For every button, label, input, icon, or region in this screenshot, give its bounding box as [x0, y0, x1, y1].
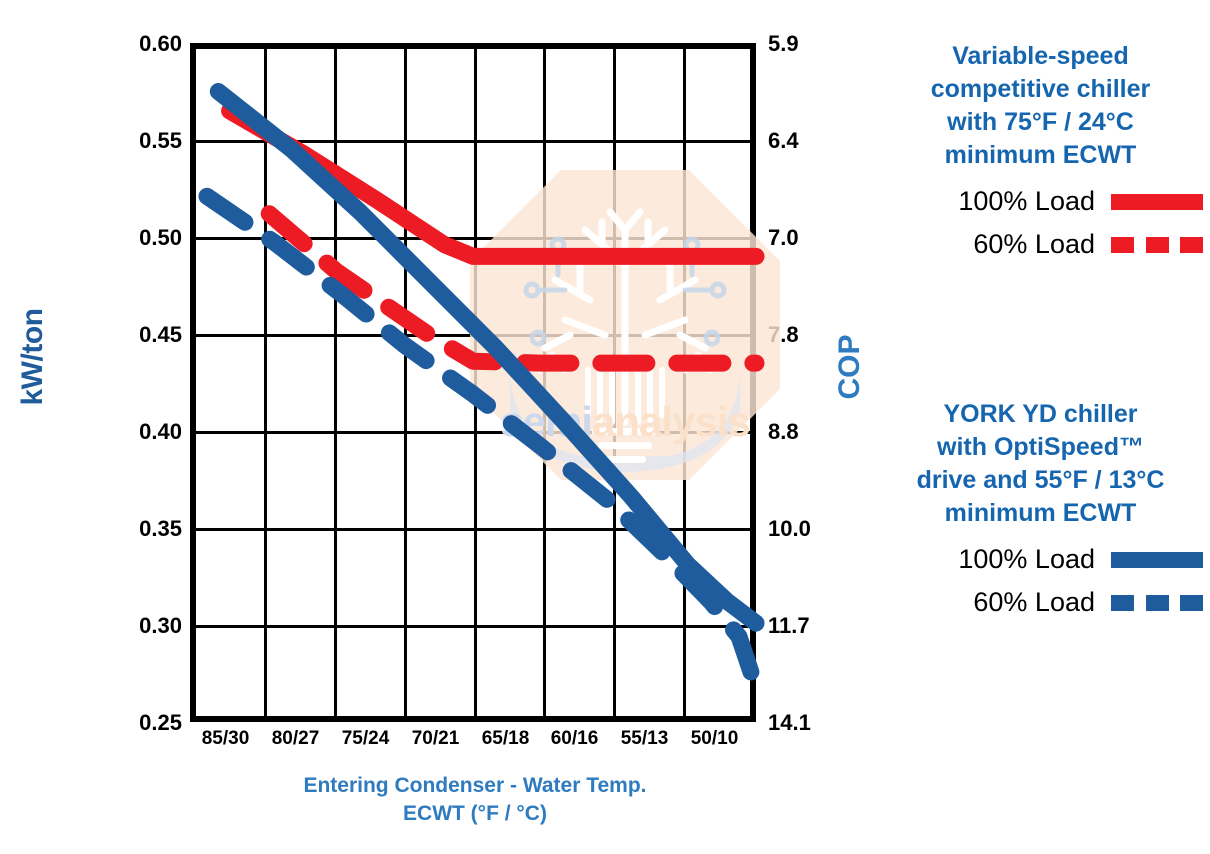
- y-tick-left-4: 0.40: [100, 419, 182, 445]
- x-tick-2: 75/24: [330, 728, 401, 750]
- legend-swatch-dashed-red: [1111, 237, 1203, 253]
- x-tick-0: 85/30: [190, 728, 261, 750]
- y-tick-right-6: 11.7: [768, 613, 858, 639]
- legend-title-line-3: minimum ECWT: [878, 497, 1203, 530]
- legend-title-line-1: competitive chiller: [878, 73, 1203, 106]
- series-line-0: [230, 111, 756, 257]
- y-tick-right-4: 8.8: [768, 419, 858, 445]
- series-line-3: [207, 196, 756, 687]
- x-axis-title: Entering Condenser - Water Temp. ECWT (°…: [190, 772, 760, 828]
- legend-block-york: YORK YD chiller with OptiSpeed™ drive an…: [878, 398, 1203, 624]
- legend-label: 60% Load: [973, 587, 1095, 618]
- x-tick-4: 65/18: [470, 728, 541, 750]
- x-axis-title-line2: ECWT (°F / °C): [190, 800, 760, 828]
- legend-spacer: [878, 266, 1203, 398]
- x-tick-1: 80/27: [260, 728, 331, 750]
- legend-title-line-0: YORK YD chiller: [878, 398, 1203, 431]
- y-axis-title-left: kW/ton: [16, 277, 50, 437]
- x-tick-6: 55/13: [609, 728, 680, 750]
- legend-title-york: YORK YD chiller with OptiSpeed™ drive an…: [878, 398, 1203, 530]
- legend-label: 100% Load: [958, 544, 1095, 575]
- x-tick-3: 70/21: [400, 728, 471, 750]
- legend-title-line-2: with 75°F / 24°C: [878, 106, 1203, 139]
- y-tick-left-5: 0.35: [100, 516, 182, 542]
- y-tick-left-2: 0.50: [100, 225, 182, 251]
- chart-container: kW/ton COP 0.60 0.55 0.50 0.45 0.40 0.35…: [0, 0, 1210, 854]
- y-tick-right-2: 7.0: [768, 225, 858, 251]
- legend-item-competitive-100[interactable]: 100% Load: [878, 180, 1203, 223]
- legend-swatch-solid-red: [1111, 194, 1203, 210]
- legend-swatch-dashed-blue: [1111, 595, 1203, 611]
- legend-label: 100% Load: [958, 186, 1095, 217]
- y-tick-left-6: 0.30: [100, 613, 182, 639]
- legend-block-competitive: Variable-speed competitive chiller with …: [878, 40, 1203, 266]
- legend-item-york-100[interactable]: 100% Load: [878, 538, 1203, 581]
- y-tick-right-5: 10.0: [768, 516, 858, 542]
- legend-item-competitive-60[interactable]: 60% Load: [878, 223, 1203, 266]
- y-tick-right-3: 7.8: [768, 322, 858, 348]
- y-tick-right-7: 14.1: [768, 710, 858, 736]
- legend-swatch-solid-blue: [1111, 552, 1203, 568]
- legend-item-york-60[interactable]: 60% Load: [878, 581, 1203, 624]
- y-tick-left-3: 0.45: [100, 322, 182, 348]
- y-tick-left-7: 0.25: [100, 710, 182, 736]
- legend-title-line-1: with OptiSpeed™: [878, 431, 1203, 464]
- legend-title-line-3: minimum ECWT: [878, 139, 1203, 172]
- legend: Variable-speed competitive chiller with …: [878, 40, 1203, 624]
- x-tick-5: 60/16: [539, 728, 610, 750]
- legend-label: 60% Load: [973, 229, 1095, 260]
- legend-title-line-0: Variable-speed: [878, 40, 1203, 73]
- y-tick-left-1: 0.55: [100, 128, 182, 154]
- y-tick-right-1: 6.4: [768, 128, 858, 154]
- legend-title-line-2: drive and 55°F / 13°C: [878, 464, 1203, 497]
- y-tick-right-0: 5.9: [768, 31, 858, 57]
- y-tick-left-0: 0.60: [100, 31, 182, 57]
- x-tick-7: 50/10: [679, 728, 750, 750]
- legend-title-competitive: Variable-speed competitive chiller with …: [878, 40, 1203, 172]
- data-series-layer: [190, 43, 756, 722]
- x-axis-title-line1: Entering Condenser - Water Temp.: [190, 772, 760, 800]
